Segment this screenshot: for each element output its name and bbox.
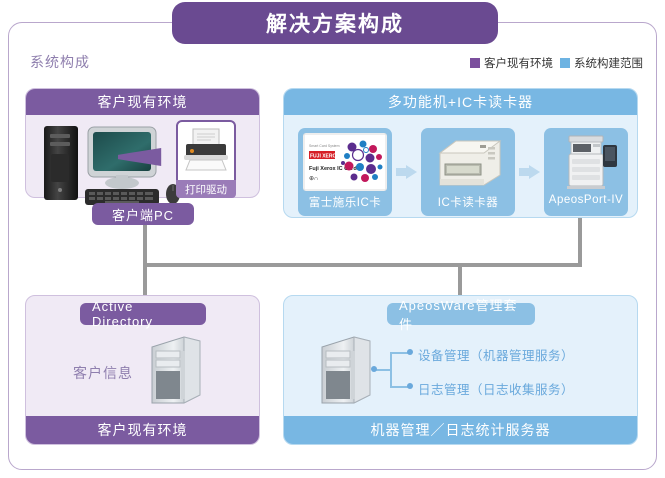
printer-driver-label: 打印驱动 <box>176 180 236 198</box>
bullet-dot-device-icon <box>407 349 413 355</box>
svg-text:FUJI XEROX: FUJI XEROX <box>310 154 340 160</box>
device-label-reader: IC卡读卡器 <box>438 194 499 210</box>
device-card-reader: IC卡读卡器 <box>421 128 515 216</box>
desktop-tower-icon <box>42 124 82 202</box>
multifunction-printer-icon <box>549 133 623 191</box>
arrow-card-to-reader-stem <box>396 168 406 176</box>
device-card-ic-card: Smart Card System FUJI XEROX Fuji Xerox … <box>298 128 392 216</box>
bullet-device-management: 设备管理（机器管理服务） <box>418 345 574 364</box>
printer-driver-box <box>176 120 236 188</box>
svg-text:⊕∩: ⊕∩ <box>309 176 318 182</box>
apeosware-pill: ApeosWare管理套件 <box>387 303 535 325</box>
device-label-apeosport: ApeosPort-IV <box>549 194 623 206</box>
bullet-log-management: 日志管理（日志收集服务） <box>418 379 574 398</box>
legend-label-scope: 系统构建范围 <box>574 55 643 71</box>
panel-mfp-header: 多功能机+IC卡读卡器 <box>284 89 637 115</box>
panel-ad-footer: 客户现有环境 <box>26 416 259 444</box>
customer-info-text: 客户信息 <box>73 363 133 383</box>
page-title: 解决方案构成 <box>172 2 498 44</box>
bullet-dot-log-icon <box>407 383 413 389</box>
connector-bus-horizontal <box>143 263 582 267</box>
arrow-card-to-reader-icon <box>406 165 417 179</box>
printer-icon <box>181 127 231 173</box>
card-reader-icon <box>426 133 510 191</box>
arrow-reader-to-mfp-icon <box>529 165 540 179</box>
legend: 客户现有环境 系统构建范围 <box>470 55 643 71</box>
panel-aw-footer: 机器管理／日志统计服务器 <box>284 416 637 444</box>
legend-item-scope: 系统构建范围 <box>560 55 643 71</box>
legend-swatch-blue-icon <box>560 58 570 68</box>
bracket-vertical <box>390 352 392 388</box>
legend-label-existing: 客户现有环境 <box>484 55 553 71</box>
section-label: 系统构成 <box>30 52 90 72</box>
ic-card-icon: Smart Card System FUJI XEROX Fuji Xerox … <box>303 133 387 191</box>
device-card-apeosport: ApeosPort-IV <box>544 128 628 216</box>
server-tower-icon <box>148 333 204 407</box>
svg-text:Smart Card System: Smart Card System <box>309 144 340 148</box>
legend-item-existing: 客户现有环境 <box>470 55 553 71</box>
diagram-root: 解决方案构成 系统构成 客户现有环境 系统构建范围 客户现有环境 <box>0 0 665 478</box>
legend-swatch-purple-icon <box>470 58 480 68</box>
panel-client-header: 客户现有环境 <box>26 89 259 115</box>
device-label-ic-card: 富士施乐IC卡 <box>309 194 382 210</box>
bracket-origin-dot-icon <box>371 366 377 372</box>
client-pc-pill: 客户端PC <box>92 203 194 225</box>
active-directory-pill: Active Directory <box>80 303 206 325</box>
arrow-reader-to-mfp-stem <box>519 168 529 176</box>
server-tower-icon <box>318 333 374 407</box>
